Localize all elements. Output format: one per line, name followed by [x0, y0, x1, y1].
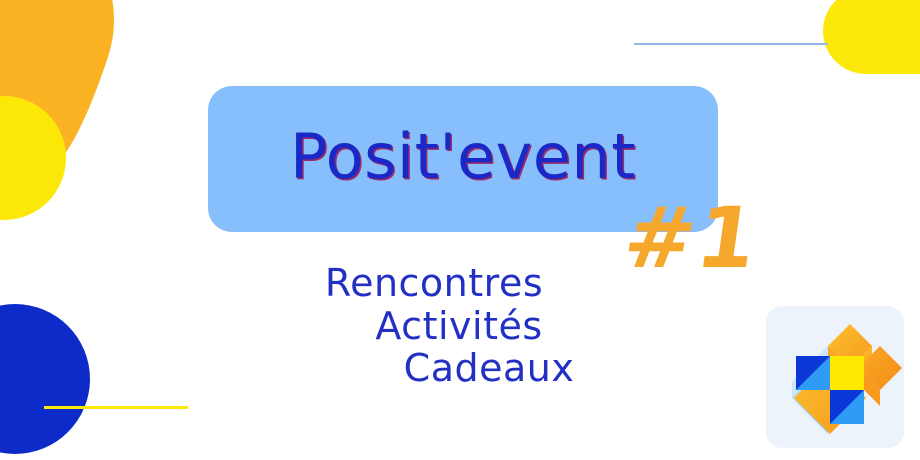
- subtitle-line-activites: Activités: [250, 305, 670, 348]
- subtitle-line-rencontres: Rencontres: [250, 262, 670, 305]
- subtitle-list: Rencontres Activités Cadeaux: [250, 262, 670, 390]
- isometric-cubes-logo: [766, 306, 904, 448]
- blue-horizontal-rule: [634, 43, 828, 45]
- event-poster: Posit'event #1 Rencontres Activités Cade…: [0, 0, 920, 460]
- subtitle-line-cadeaux: Cadeaux: [250, 347, 670, 390]
- yellow-pill-shape: [823, 0, 920, 74]
- blue-circle-shape: [0, 304, 90, 454]
- yellow-horizontal-rule: [44, 406, 188, 409]
